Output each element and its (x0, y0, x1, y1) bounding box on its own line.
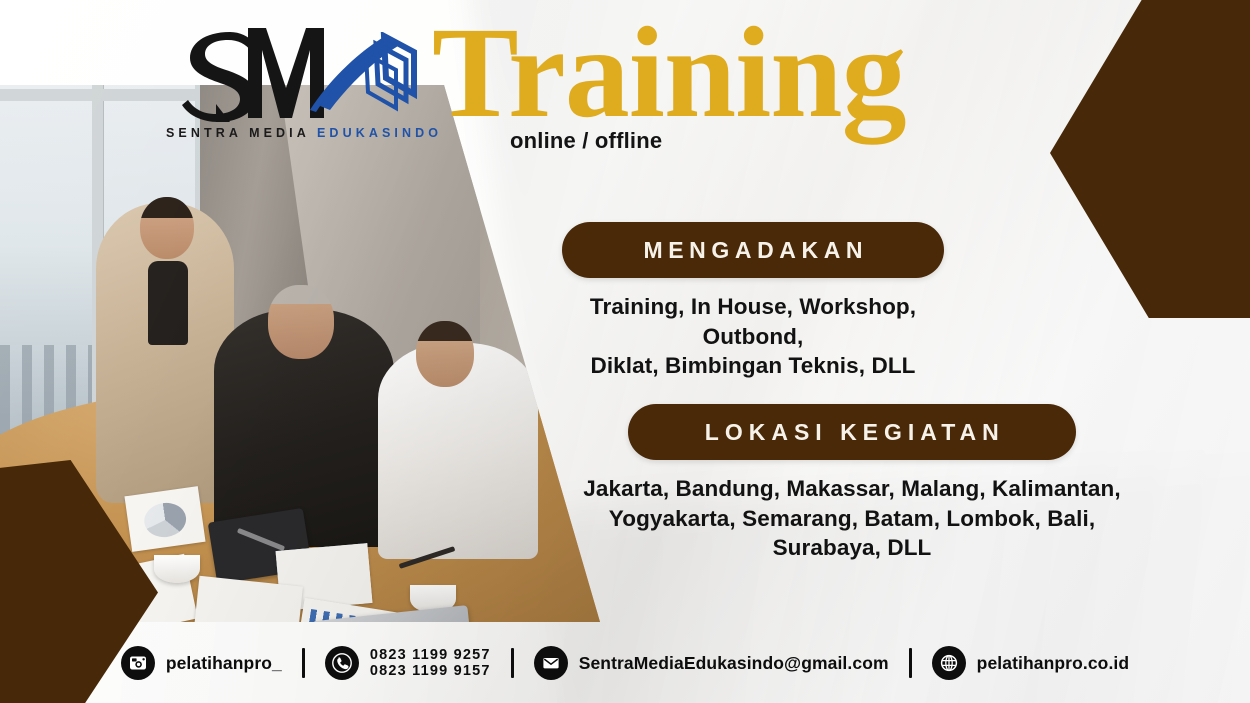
contact-website[interactable]: pelatihanpro.co.id (932, 646, 1130, 680)
section-lokasi-kegiatan: LOKASI KEGIATAN Jakarta, Bandung, Makass… (628, 404, 1076, 563)
instagram-handle: pelatihanpro_ (166, 653, 282, 674)
mengadakan-body-line: Diklat, Bimbingan Teknis, DLL (562, 351, 944, 381)
contact-phone[interactable]: 0823 1199 9257 0823 1199 9157 (325, 646, 491, 680)
footer-divider (511, 648, 514, 678)
contact-email[interactable]: SentraMediaEdukasindo@gmail.com (534, 646, 889, 680)
promo-banner: SENTRA MEDIA EDUKASINDO Training online … (0, 0, 1250, 703)
instagram-icon (121, 646, 155, 680)
globe-icon (932, 646, 966, 680)
headline: Training online / offline (432, 14, 992, 154)
page-title: Training (432, 14, 992, 134)
logo-wordmark-primary: SENTRA MEDIA (166, 126, 309, 140)
lokasi-body-line: Jakarta, Bandung, Makassar, Malang, Kali… (532, 474, 1172, 504)
badge-lokasi-kegiatan: LOKASI KEGIATAN (628, 404, 1076, 460)
phone-numbers: 0823 1199 9257 0823 1199 9157 (370, 647, 491, 679)
phone-number-2: 0823 1199 9157 (370, 663, 491, 679)
email-icon (534, 646, 568, 680)
logo-wordmark-secondary: EDUKASINDO (317, 126, 442, 140)
lokasi-body-line: Yogyakarta, Semarang, Batam, Lombok, Bal… (532, 504, 1172, 534)
company-logo: SENTRA MEDIA EDUKASINDO (166, 26, 422, 148)
footer-divider (909, 648, 912, 678)
mengadakan-body: Training, In House, Workshop, Outbond, D… (562, 292, 944, 381)
email-address: SentraMediaEdukasindo@gmail.com (579, 653, 889, 674)
open-book-icon (306, 32, 418, 124)
contact-instagram[interactable]: pelatihanpro_ (121, 646, 282, 680)
contact-footer: pelatihanpro_ 0823 1199 9257 0823 1199 9… (0, 639, 1250, 687)
lokasi-body-line: Surabaya, DLL (532, 533, 1172, 563)
mengadakan-body-line: Training, In House, Workshop, Outbond, (562, 292, 944, 351)
logo-wordmark: SENTRA MEDIA EDUKASINDO (166, 126, 422, 140)
badge-mengadakan: MENGADAKAN (562, 222, 944, 278)
phone-icon (325, 646, 359, 680)
phone-number-1: 0823 1199 9257 (370, 647, 491, 663)
lokasi-body: Jakarta, Bandung, Makassar, Malang, Kali… (532, 474, 1172, 563)
website-url: pelatihanpro.co.id (977, 653, 1130, 674)
section-mengadakan: MENGADAKAN Training, In House, Workshop,… (562, 222, 944, 381)
footer-divider (302, 648, 305, 678)
